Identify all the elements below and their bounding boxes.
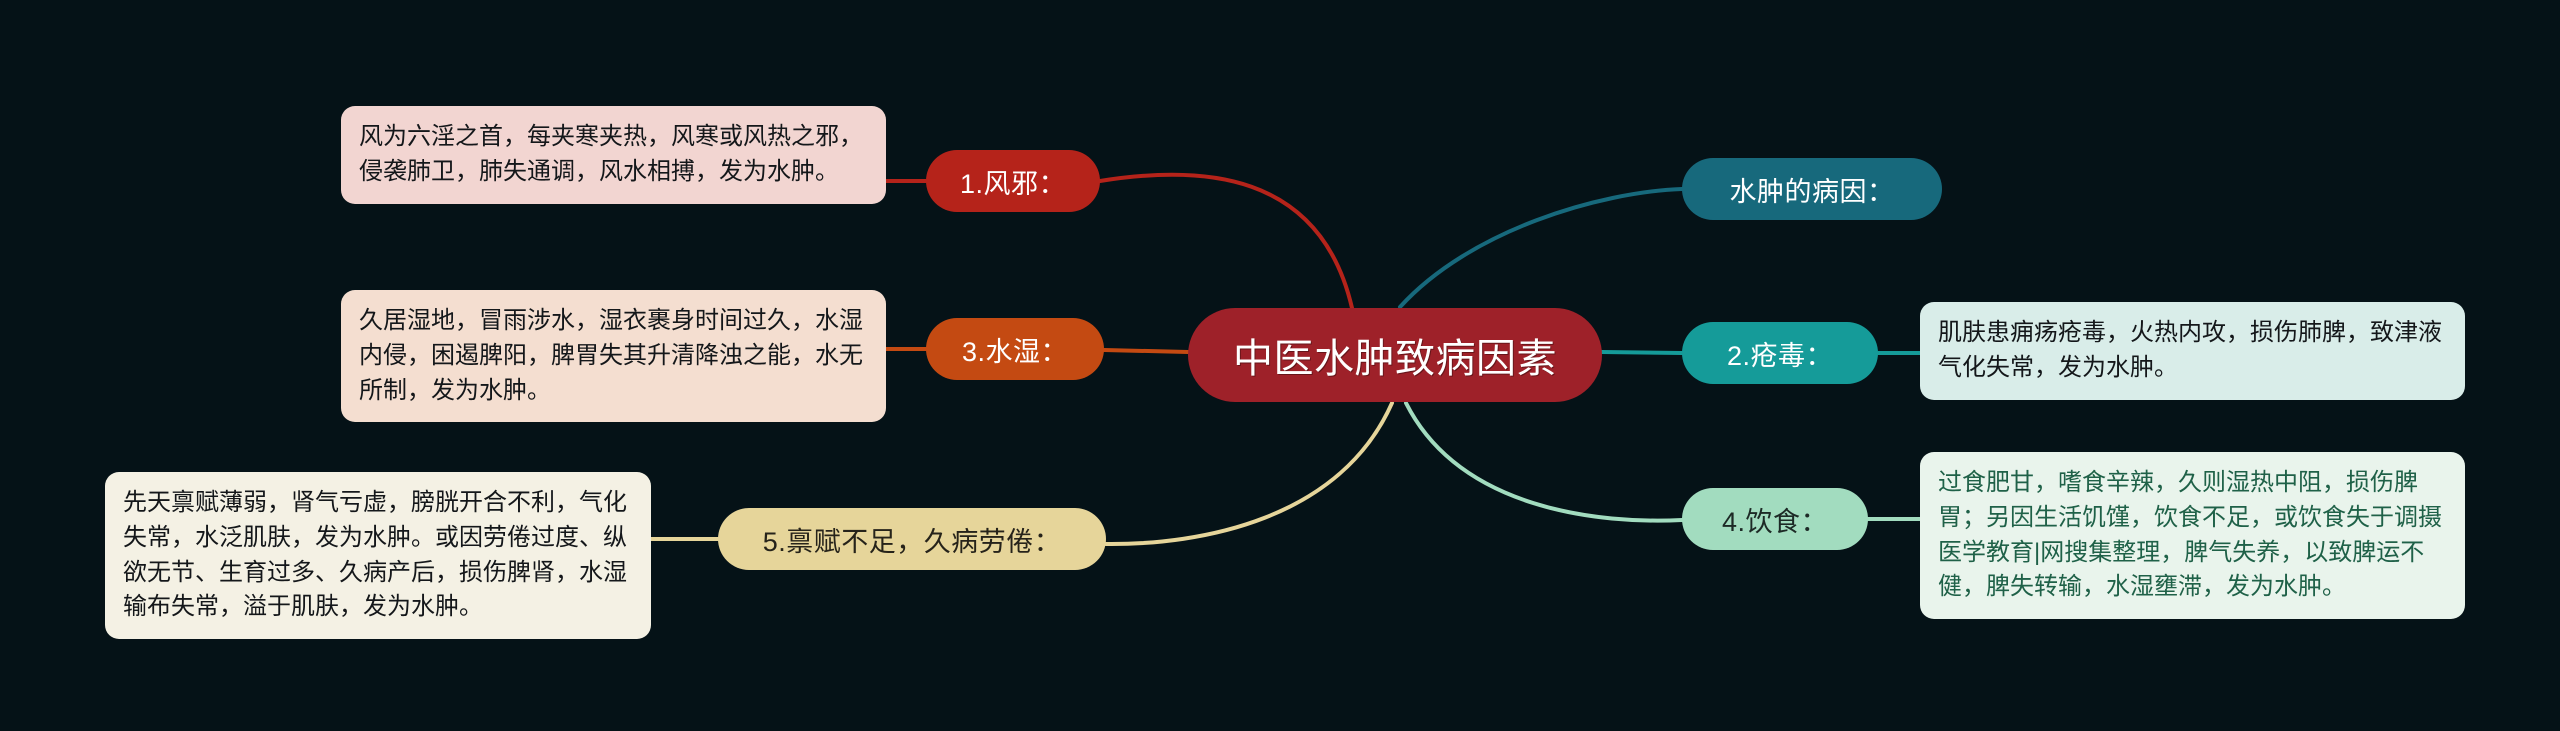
branch-node-yinshi[interactable]: 4.饮食： — [1682, 488, 1868, 550]
branch-node-yinshi-label: 4.饮食： — [1722, 500, 1828, 539]
connector-root-to-branch3 — [1104, 350, 1188, 352]
branch-node-shuishi-label: 3.水湿： — [962, 330, 1068, 369]
connector-root-to-branch2 — [1602, 352, 1682, 353]
note-text-branch4: 过食肥甘，嗜食辛辣，久则湿热中阻，损伤脾胃；另因生活饥馑，饮食不足，或饮食失于调… — [1938, 469, 2442, 600]
note-box-branch4: 过食肥甘，嗜食辛辣，久则湿热中阻，损伤脾胃；另因生活饥馑，饮食不足，或饮食失于调… — [1920, 452, 2465, 619]
note-box-branch2: 肌肤患痈疡疮毒，火热内攻，损伤肺脾，致津液气化失常，发为水肿。 — [1920, 302, 2465, 400]
connector-root-to-branch1 — [1100, 175, 1352, 308]
branch-node-shuizhong-bingyin[interactable]: 水肿的病因： — [1682, 158, 1942, 220]
root-node[interactable]: 中医水肿致病因素 — [1188, 308, 1602, 402]
branch-node-fengxie[interactable]: 1.风邪： — [926, 150, 1100, 212]
note-box-branch3: 久居湿地，冒雨涉水，湿衣裹身时间过久，水湿内侵，困遏脾阳，脾胃失其升清降浊之能，… — [341, 290, 886, 422]
connector-root-to-branch5 — [1106, 403, 1392, 544]
mindmap-canvas: 风为六淫之首，每夹寒夹热，风寒或风热之邪，侵袭肺卫，肺失通调，风水相搏，发为水肿… — [0, 0, 2560, 731]
branch-node-chuangdu-label: 2.疮毒： — [1727, 334, 1833, 373]
note-text-branch3: 久居湿地，冒雨涉水，湿衣裹身时间过久，水湿内侵，困遏脾阳，脾胃失其升清降浊之能，… — [359, 307, 863, 404]
branch-node-bingfu-buzu[interactable]: 5.禀赋不足，久病劳倦： — [718, 508, 1106, 570]
note-box-branch5: 先天禀赋薄弱，肾气亏虚，膀胱开合不利，气化失常，水泛肌肤，发为水肿。或因劳倦过度… — [105, 472, 651, 639]
note-text-branch1: 风为六淫之首，每夹寒夹热，风寒或风热之邪，侵袭肺卫，肺失通调，风水相搏，发为水肿… — [359, 123, 863, 185]
branch-node-bingfu-buzu-label: 5.禀赋不足，久病劳倦： — [763, 520, 1062, 559]
branch-node-shuizhong-bingyin-label: 水肿的病因： — [1730, 170, 1895, 209]
note-text-branch2: 肌肤患痈疡疮毒，火热内攻，损伤肺脾，致津液气化失常，发为水肿。 — [1938, 319, 2442, 381]
connector-root-to-branch6 — [1400, 189, 1682, 307]
branch-node-fengxie-label: 1.风邪： — [960, 162, 1066, 201]
branch-node-chuangdu[interactable]: 2.疮毒： — [1682, 322, 1878, 384]
connector-root-to-branch4 — [1406, 403, 1682, 521]
branch-node-shuishi[interactable]: 3.水湿： — [926, 318, 1104, 380]
root-node-label: 中医水肿致病因素 — [1233, 326, 1557, 384]
note-box-branch1: 风为六淫之首，每夹寒夹热，风寒或风热之邪，侵袭肺卫，肺失通调，风水相搏，发为水肿… — [341, 106, 886, 204]
note-text-branch5: 先天禀赋薄弱，肾气亏虚，膀胱开合不利，气化失常，水泛肌肤，发为水肿。或因劳倦过度… — [123, 489, 627, 620]
